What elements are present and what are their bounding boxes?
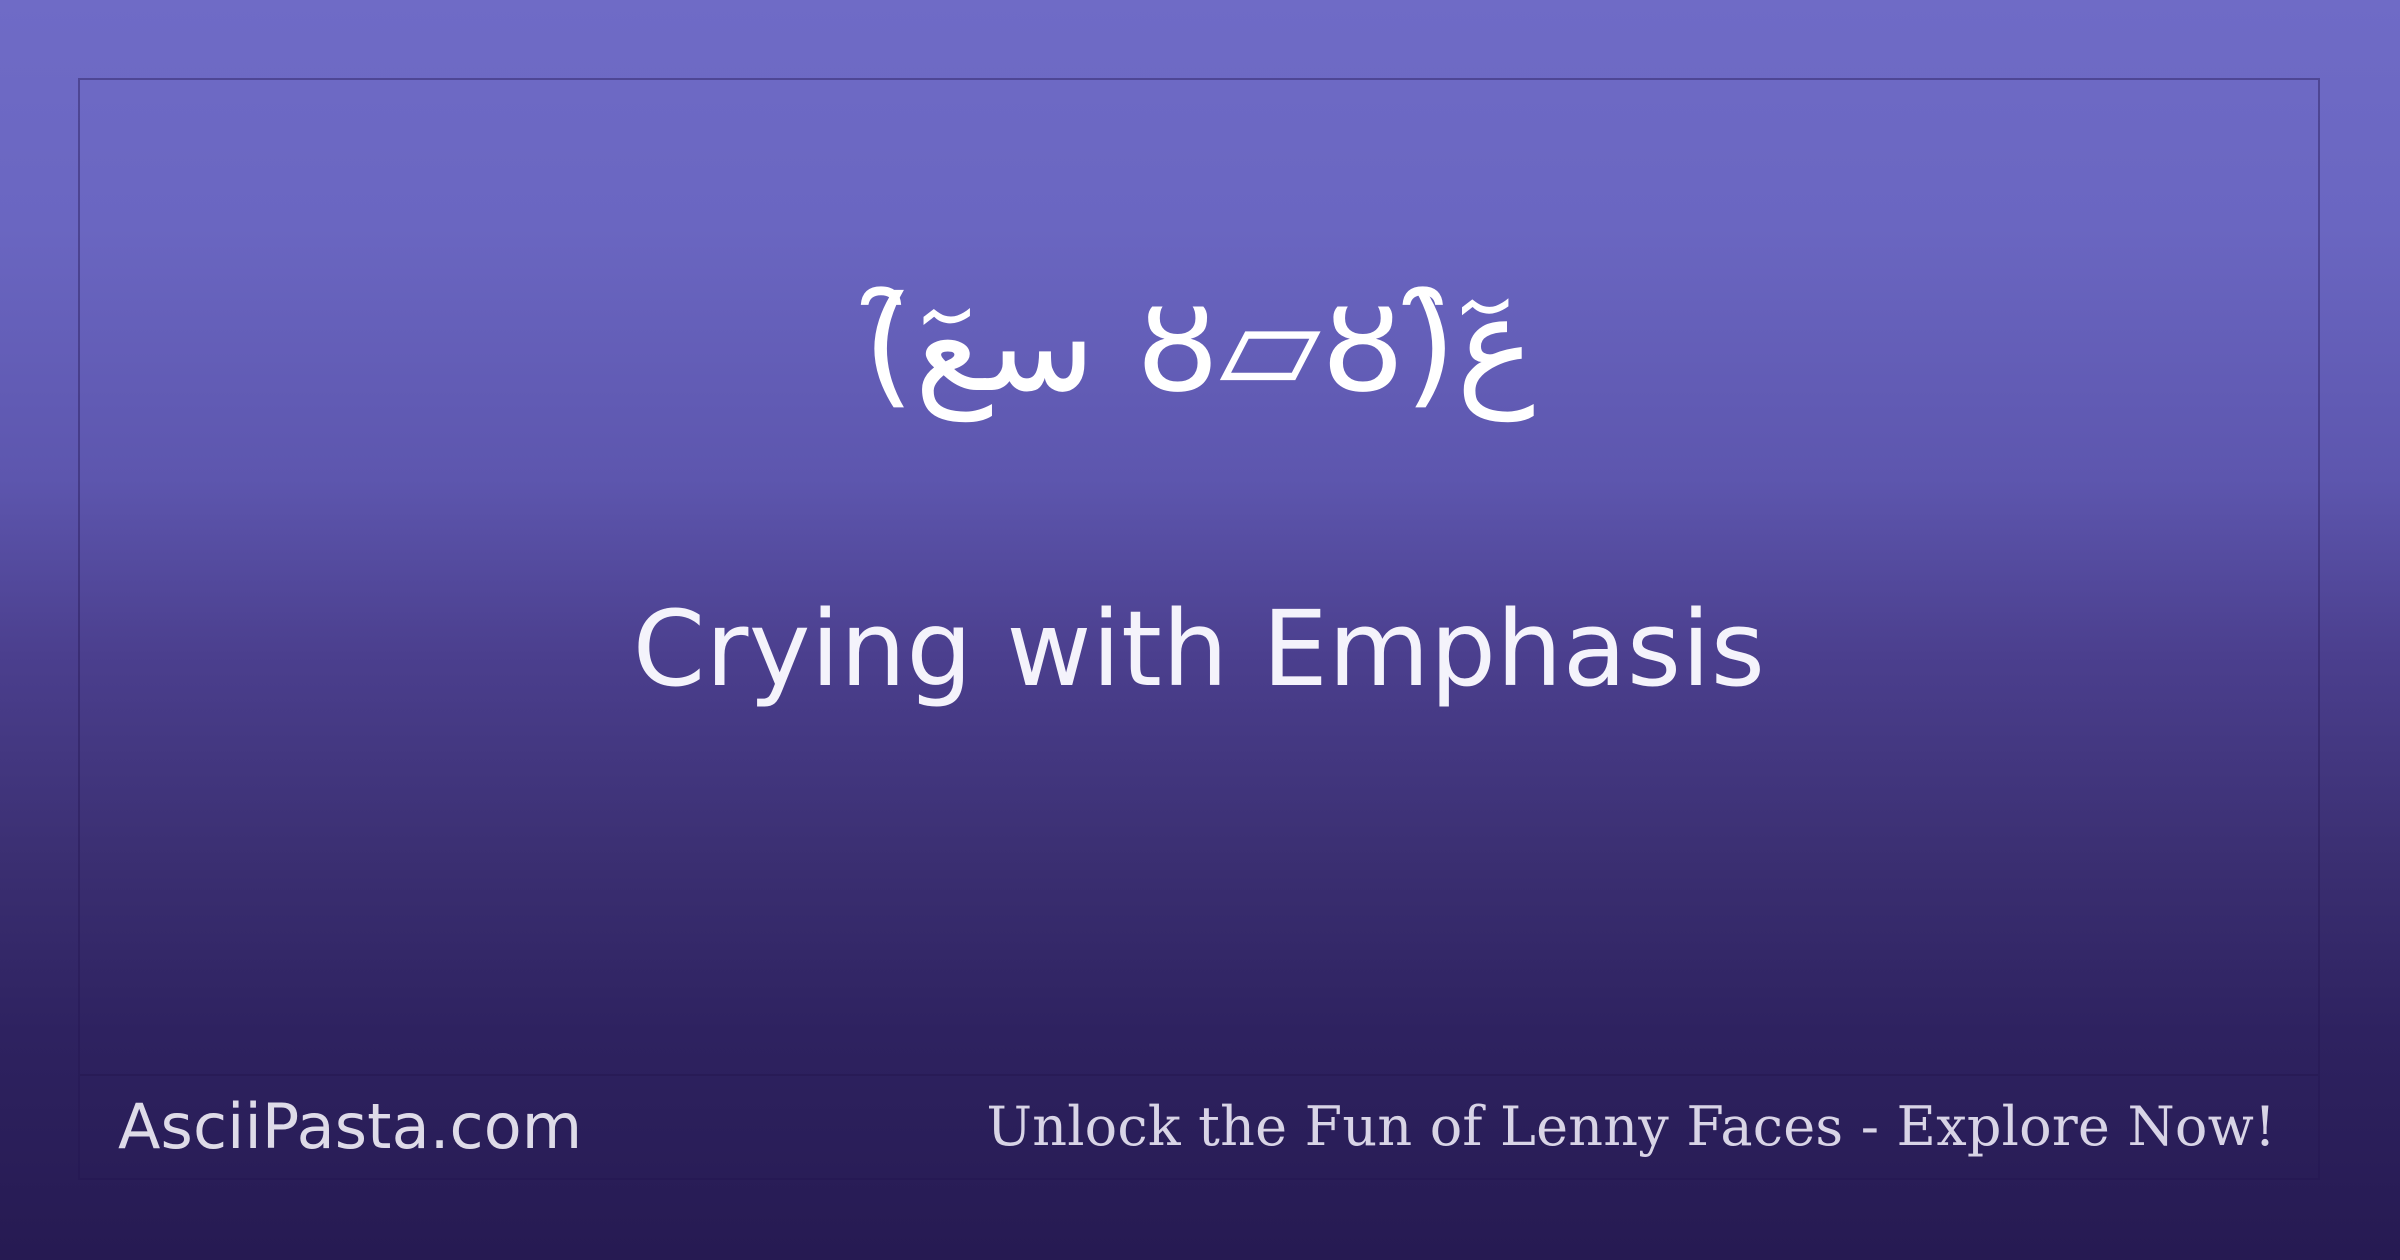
ascii-face-container: (ع̑ٓس ȣ▱ȣ)ع̑ٓ (80, 268, 2318, 424)
card-footer: AsciiPasta.com Unlock the Fun of Lenny F… (80, 1074, 2318, 1178)
framed-card: (ع̑ٓس ȣ▱ȣ)ع̑ٓ Crying with Emphasis Ascii… (78, 78, 2320, 1180)
footer-tagline: Unlock the Fun of Lenny Faces - Explore … (986, 1100, 2276, 1154)
card-stage: (ع̑ٓس ȣ▱ȣ)ع̑ٓ Crying with Emphasis (80, 80, 2318, 1074)
face-title-container: Crying with Emphasis (80, 592, 2318, 706)
site-brand: AsciiPasta.com (118, 1096, 582, 1158)
face-title: Crying with Emphasis (633, 592, 1766, 706)
lenny-face-card-image: (ع̑ٓس ȣ▱ȣ)ع̑ٓ Crying with Emphasis Ascii… (0, 0, 2400, 1260)
ascii-lenny-face: (ع̑ٓس ȣ▱ȣ)ع̑ٓ (863, 268, 1535, 424)
